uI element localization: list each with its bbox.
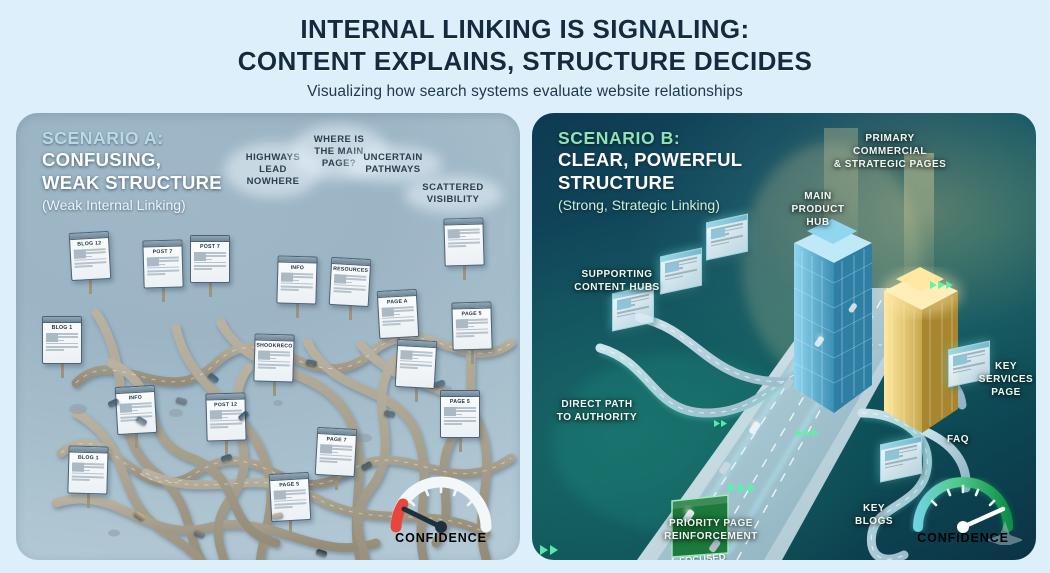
page-card-thumb — [72, 463, 84, 472]
page-card-body — [43, 332, 81, 354]
page-card: PAGE A — [377, 289, 420, 339]
page-card-body — [453, 317, 492, 340]
content-hub-card-thumb — [617, 298, 631, 310]
page-card-stem — [463, 264, 466, 280]
panel-b-label: KEY SERVICES PAGE — [947, 360, 1036, 399]
callout-label: UNCERTAIN PATHWAYS — [354, 152, 432, 176]
page-subtitle: Visualizing how search systems evaluate … — [0, 77, 1050, 101]
page-card: POST 7 — [190, 235, 230, 283]
page-card-stem — [335, 474, 338, 490]
infographic-header: INTERNAL LINKING IS SIGNALING: CONTENT E… — [0, 0, 1050, 113]
page-card-thumb — [456, 319, 468, 328]
page-card-thumb — [274, 490, 286, 500]
page-card-thumb — [120, 403, 132, 413]
page-card-stem — [87, 492, 90, 508]
page-card: BLOG 12 — [69, 231, 112, 281]
page-card-label: PAGE 5 — [441, 397, 479, 406]
page-card-stem — [349, 304, 352, 320]
page-card-stem — [296, 302, 299, 318]
page-card-thumb — [194, 252, 206, 261]
page-card-body — [445, 227, 484, 250]
page-card-body — [397, 349, 436, 373]
page-card-body — [379, 305, 418, 329]
page-card-thumb — [281, 273, 293, 282]
panel-b-label: SUPPORTING CONTENT HUBS — [558, 268, 676, 294]
page-card-stem — [61, 362, 64, 378]
confidence-gauge-b — [904, 465, 1022, 545]
page-card-body — [255, 349, 294, 372]
page-card: SHOOKRECO — [253, 333, 294, 382]
page-card-thumb — [74, 249, 86, 259]
page-card: BLOG 1 — [42, 316, 82, 364]
panel-a-subtitle: (Weak Internal Linking) — [42, 196, 222, 214]
page-card-body — [316, 443, 355, 467]
panel-b-title-line-2: STRUCTURE — [558, 172, 742, 195]
panel-b-title-line-1: CLEAR, POWERFUL — [558, 149, 742, 172]
page-card: INFO — [276, 255, 317, 304]
page-card-thumb — [448, 229, 460, 238]
panel-scenario-b: SCENARIO B: CLEAR, POWERFUL STRUCTURE (S… — [532, 113, 1036, 560]
page-card: PAGE 5 — [440, 390, 480, 438]
panel-b-label: MAIN PRODUCT HUB — [759, 190, 877, 229]
panel-scenario-a: SCENARIO A: CONFUSING, WEAK STRUCTURE (W… — [16, 113, 520, 560]
page-card-stem — [289, 519, 292, 535]
page-card-body — [330, 273, 369, 297]
page-card: POST 7 — [142, 239, 183, 288]
page-card: BLOG 1 — [67, 445, 108, 494]
panel-b-label: PRIMARY COMMERCIAL & STRATEGIC PAGES — [831, 132, 949, 171]
page-card: PAGE 7 — [315, 427, 358, 477]
page-card-stem — [89, 278, 92, 294]
page-card-thumb — [320, 444, 332, 454]
panel-b-label: DIRECT PATH TO AUTHORITY — [538, 398, 656, 424]
page-card-body — [441, 406, 479, 428]
page-card-stem — [162, 286, 165, 302]
page-card-body — [271, 488, 310, 512]
page-card-body — [71, 247, 110, 271]
page-card-body — [278, 271, 317, 294]
page-card-stem — [135, 432, 138, 448]
page-card-thumb — [147, 257, 159, 266]
page-card-thumb — [444, 407, 456, 416]
page-card-label: POST 7 — [191, 242, 229, 251]
page-card: RESOURCES — [329, 257, 372, 307]
page-card-body — [144, 255, 183, 278]
panel-b-label: FAQ — [899, 433, 1017, 446]
content-hub-card-thumb — [711, 227, 725, 239]
panel-a-title-line-1: CONFUSING, — [42, 149, 222, 172]
panel-b-label: PRIORITY PAGE REINFORCEMENT — [652, 517, 770, 543]
page-card: PAGE 5 — [451, 301, 492, 350]
page-card-body — [191, 251, 229, 273]
page-card-stem — [209, 281, 212, 297]
page-card-stem — [225, 439, 228, 455]
page-card-stem — [471, 348, 474, 364]
page-card-thumb — [400, 350, 412, 360]
page-title: INTERNAL LINKING IS SIGNALING: CONTENT E… — [0, 0, 1050, 77]
content-hub-card-thumb — [885, 449, 899, 461]
page-card — [395, 339, 438, 389]
page-card-thumb — [46, 333, 58, 342]
panel-a-heading: SCENARIO A: CONFUSING, WEAK STRUCTURE (W… — [42, 127, 222, 214]
panel-b-heading: SCENARIO B: CLEAR, POWERFUL STRUCTURE (S… — [558, 127, 742, 214]
panel-b-subtitle: (Strong, Strategic Linking) — [558, 196, 742, 214]
page-card-thumb — [210, 410, 222, 419]
title-line-2: CONTENT EXPLAINS, STRUCTURE DECIDES — [0, 46, 1050, 78]
page-card — [443, 217, 484, 266]
page-card-thumb — [382, 307, 394, 317]
confidence-gauge-a — [382, 465, 500, 545]
page-card-stem — [273, 380, 276, 396]
panel-a-scenario-label: SCENARIO A: — [42, 127, 222, 149]
page-card-stem — [415, 386, 418, 402]
page-card-label: BLOG 1 — [43, 323, 81, 332]
callout-label: SCATTERED VISIBILITY — [414, 182, 492, 206]
page-card-stem — [459, 436, 462, 452]
page-card-body — [69, 461, 108, 484]
panel-a-title-line-2: WEAK STRUCTURE — [42, 172, 222, 195]
page-card-thumb — [258, 351, 270, 360]
page-card-thumb — [334, 274, 346, 284]
title-line-1: INTERNAL LINKING IS SIGNALING: — [300, 14, 749, 44]
page-card: INFO — [115, 385, 158, 435]
panel-b-scenario-label: SCENARIO B: — [558, 127, 742, 149]
